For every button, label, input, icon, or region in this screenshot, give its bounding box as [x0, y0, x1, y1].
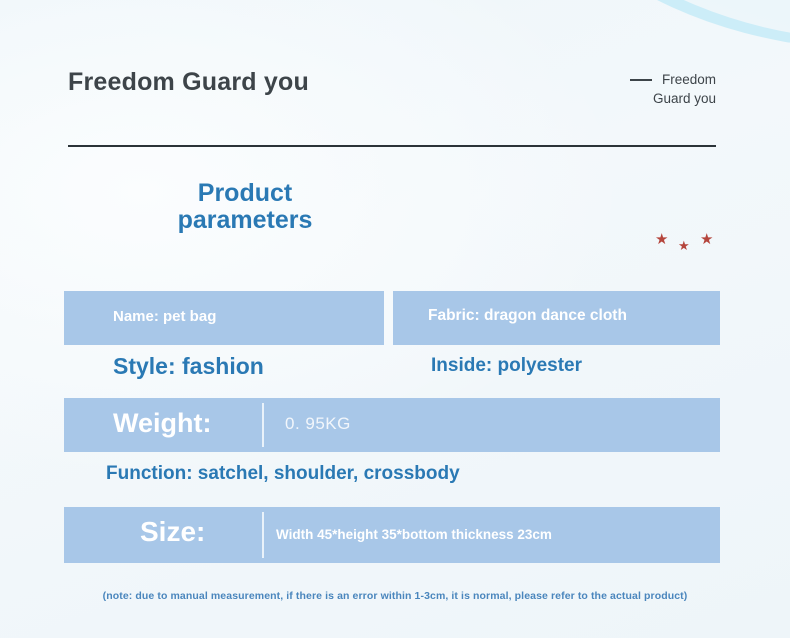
brand-text-line2: Guard you: [536, 89, 716, 108]
product-parameters-page: Freedom Guard you Freedom Guard you Prod…: [0, 0, 790, 638]
section-heading: Product parameters: [110, 180, 380, 234]
param-value-weight: 0. 95KG: [285, 414, 351, 434]
param-value-size: Width 45*height 35*bottom thickness 23cm: [276, 527, 552, 542]
star-icon: ★: [700, 232, 713, 247]
param-label-style: Style: fashion: [113, 353, 264, 380]
param-label-name: Name: pet bag: [113, 308, 216, 325]
param-label-size: Size:: [140, 516, 205, 548]
param-box-name: [64, 291, 384, 345]
param-divider-weight: [262, 403, 264, 447]
header-divider: [68, 145, 716, 147]
dash-icon: [630, 79, 652, 81]
param-label-fabric: Fabric: dragon dance cloth: [428, 307, 627, 325]
brand-mark: Freedom Guard you: [536, 70, 716, 108]
corner-arc-inner-decoration: [500, 0, 790, 68]
page-title: Freedom Guard you: [68, 68, 309, 97]
brand-text-line1: Freedom: [662, 70, 716, 89]
star-decoration-group: ★ ★ ★: [655, 232, 725, 256]
star-icon: ★: [678, 238, 690, 253]
brand-line-one: Freedom: [536, 70, 716, 89]
param-label-inside: Inside: polyester: [431, 355, 582, 377]
measurement-note: (note: due to manual measurement, if the…: [0, 590, 790, 602]
param-label-weight: Weight:: [113, 408, 211, 439]
section-heading-line2: parameters: [110, 207, 380, 234]
param-label-function: Function: satchel, shoulder, crossbody: [106, 463, 460, 485]
param-divider-size: [262, 512, 264, 558]
section-heading-line1: Product: [110, 180, 380, 207]
star-icon: ★: [655, 232, 668, 247]
